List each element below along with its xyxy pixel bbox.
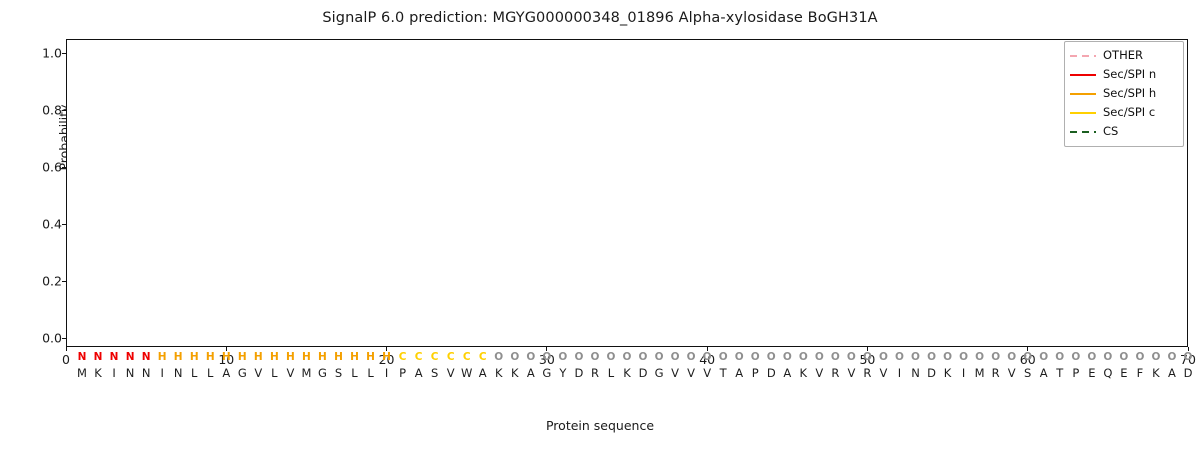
region-marker: H (222, 351, 231, 363)
residue-letter: V (254, 366, 262, 380)
region-marker: O (1039, 351, 1048, 363)
region-marker: H (238, 351, 247, 363)
region-marker: O (783, 351, 792, 363)
residue-letter: V (671, 366, 679, 380)
residue-letter: M (77, 366, 87, 380)
residue-letter: V (703, 366, 711, 380)
residue-letter: Y (559, 366, 566, 380)
legend-item-sec-spi-c[interactable]: Sec/SPI c (1070, 103, 1178, 122)
residue-letter: G (318, 366, 327, 380)
residue-letter: A (1040, 366, 1048, 380)
residue-letter: E (1120, 366, 1127, 380)
region-annotation-row: NNNNNHHHHHHHHHHHHHHHCCCCCCOOOOOOOOOOOOOO… (0, 351, 1200, 366)
region-marker: O (590, 351, 599, 363)
region-marker: O (1055, 351, 1064, 363)
residue-letter: L (191, 366, 197, 380)
legend-item-cs[interactable]: CS (1070, 122, 1178, 141)
residue-letter: D (767, 366, 776, 380)
region-marker: H (366, 351, 375, 363)
region-marker: H (270, 351, 279, 363)
region-marker: H (206, 351, 215, 363)
region-marker: N (142, 351, 151, 363)
region-marker: O (574, 351, 583, 363)
region-marker: O (1103, 351, 1112, 363)
legend-item-other[interactable]: OTHER (1070, 46, 1178, 65)
region-marker: O (1023, 351, 1032, 363)
residue-letter: L (608, 366, 614, 380)
region-marker: O (927, 351, 936, 363)
residue-letter: N (126, 366, 135, 380)
plot-frame (66, 39, 1188, 347)
legend-swatch-icon (1070, 50, 1096, 62)
residue-letter: K (944, 366, 952, 380)
region-marker: O (975, 351, 984, 363)
residue-letter: R (992, 366, 1000, 380)
residue-letter: A (735, 366, 743, 380)
residue-letter: I (112, 366, 115, 380)
region-marker: O (1168, 351, 1177, 363)
legend-label: CS (1103, 126, 1118, 138)
region-marker: O (767, 351, 776, 363)
y-tick-label: 0.0 (0, 331, 62, 346)
region-marker: O (751, 351, 760, 363)
legend-swatch-icon (1070, 107, 1096, 119)
residue-letter: K (1152, 366, 1160, 380)
region-marker: O (1119, 351, 1128, 363)
residue-letter: V (815, 366, 823, 380)
region-marker: O (959, 351, 968, 363)
residue-letter: A (415, 366, 423, 380)
residue-letter: R (863, 366, 871, 380)
residue-letter: E (1088, 366, 1095, 380)
region-marker: C (463, 351, 471, 363)
residue-letter: K (800, 366, 808, 380)
residue-letter: A (479, 366, 487, 380)
chart-title: SignalP 6.0 prediction: MGYG000000348_01… (0, 10, 1200, 26)
region-marker: O (991, 351, 1000, 363)
y-tick-label: 0.6 (0, 160, 62, 175)
residue-letter: G (655, 366, 664, 380)
region-marker: O (815, 351, 824, 363)
residue-letter: R (831, 366, 839, 380)
residue-letter: I (160, 366, 163, 380)
region-marker: O (639, 351, 648, 363)
residue-letter: K (623, 366, 631, 380)
legend-label: OTHER (1103, 50, 1143, 62)
region-marker: C (431, 351, 439, 363)
residue-letter: F (1137, 366, 1144, 380)
residue-letter: D (1184, 366, 1193, 380)
residue-letter: P (1072, 366, 1079, 380)
residue-letter: I (385, 366, 388, 380)
residue-letter: V (880, 366, 888, 380)
residue-letter: N (174, 366, 183, 380)
amino-acid-sequence-row: MKINNINLLAGVLVMGSLLIPASVWAKKAGYDRLKDGVVV… (0, 366, 1200, 381)
region-marker: N (94, 351, 103, 363)
residue-letter: A (1168, 366, 1176, 380)
region-marker: O (655, 351, 664, 363)
x-axis-label: Protein sequence (0, 418, 1200, 433)
region-marker: O (494, 351, 503, 363)
region-marker: O (1071, 351, 1080, 363)
region-marker: N (110, 351, 119, 363)
residue-letter: A (222, 366, 230, 380)
y-tick-label: 1.0 (0, 46, 62, 61)
residue-letter: G (542, 366, 551, 380)
residue-letter: P (752, 366, 759, 380)
residue-letter: D (639, 366, 648, 380)
region-marker: H (174, 351, 183, 363)
region-marker: N (78, 351, 87, 363)
region-marker: O (558, 351, 567, 363)
region-marker: H (254, 351, 263, 363)
legend-item-sec-spi-n[interactable]: Sec/SPI n (1070, 65, 1178, 84)
legend-swatch-icon (1070, 69, 1096, 81)
residue-letter: V (847, 366, 855, 380)
region-marker: O (1151, 351, 1160, 363)
region-marker: O (1135, 351, 1144, 363)
region-marker: H (158, 351, 167, 363)
region-marker: O (735, 351, 744, 363)
region-marker: O (607, 351, 616, 363)
legend-item-sec-spi-h[interactable]: Sec/SPI h (1070, 84, 1178, 103)
residue-letter: T (720, 366, 727, 380)
residue-letter: W (461, 366, 472, 380)
region-marker: O (542, 351, 551, 363)
residue-letter: L (351, 366, 357, 380)
region-marker: H (286, 351, 295, 363)
residue-letter: L (271, 366, 277, 380)
region-marker: O (831, 351, 840, 363)
legend-swatch-icon (1070, 126, 1096, 138)
y-tick-label: 0.4 (0, 217, 62, 232)
region-marker: O (510, 351, 519, 363)
region-marker: O (911, 351, 920, 363)
residue-letter: V (447, 366, 455, 380)
residue-letter: K (94, 366, 102, 380)
region-marker: H (190, 351, 199, 363)
residue-letter: N (142, 366, 151, 380)
region-marker: O (879, 351, 888, 363)
residue-letter: V (1008, 366, 1016, 380)
legend-label: Sec/SPI n (1103, 69, 1156, 81)
legend[interactable]: OTHERSec/SPI nSec/SPI hSec/SPI cCS (1064, 41, 1184, 147)
residue-letter: P (399, 366, 406, 380)
residue-letter: I (962, 366, 965, 380)
region-marker: H (318, 351, 327, 363)
residue-letter: V (286, 366, 294, 380)
residue-letter: Q (1103, 366, 1112, 380)
residue-letter: S (1024, 366, 1031, 380)
residue-letter: A (527, 366, 535, 380)
region-marker: O (1184, 351, 1193, 363)
residue-letter: D (574, 366, 583, 380)
residue-letter: G (238, 366, 247, 380)
plot-area (66, 39, 1188, 347)
residue-letter: M (301, 366, 311, 380)
residue-letter: A (783, 366, 791, 380)
residue-letter: L (367, 366, 373, 380)
region-marker: O (687, 351, 696, 363)
region-marker: O (895, 351, 904, 363)
region-marker: O (943, 351, 952, 363)
region-marker: O (671, 351, 680, 363)
legend-label: Sec/SPI c (1103, 107, 1155, 119)
region-marker: O (1007, 351, 1016, 363)
residue-letter: L (207, 366, 213, 380)
region-marker: H (302, 351, 311, 363)
region-marker: C (399, 351, 407, 363)
y-tick-label: 0.8 (0, 103, 62, 118)
region-marker: H (334, 351, 343, 363)
region-marker: O (623, 351, 632, 363)
signalp-prediction-figure: SignalP 6.0 prediction: MGYG000000348_01… (0, 0, 1200, 450)
region-marker: O (799, 351, 808, 363)
region-marker: O (526, 351, 535, 363)
residue-letter: S (335, 366, 342, 380)
region-marker: C (415, 351, 423, 363)
region-marker: O (703, 351, 712, 363)
residue-letter: M (975, 366, 985, 380)
residue-letter: K (511, 366, 519, 380)
region-marker: O (719, 351, 728, 363)
residue-letter: V (687, 366, 695, 380)
region-marker: O (847, 351, 856, 363)
residue-letter: R (591, 366, 599, 380)
region-marker: C (479, 351, 487, 363)
residue-letter: I (898, 366, 901, 380)
residue-letter: S (431, 366, 438, 380)
region-marker: C (447, 351, 455, 363)
region-marker: H (382, 351, 391, 363)
y-tick-label: 0.2 (0, 274, 62, 289)
residue-letter: T (1056, 366, 1063, 380)
region-marker: O (863, 351, 872, 363)
region-marker: N (126, 351, 135, 363)
residue-letter: D (927, 366, 936, 380)
legend-label: Sec/SPI h (1103, 88, 1156, 100)
region-marker: H (350, 351, 359, 363)
residue-letter: K (495, 366, 503, 380)
residue-letter: N (911, 366, 920, 380)
region-marker: O (1087, 351, 1096, 363)
legend-swatch-icon (1070, 88, 1096, 100)
